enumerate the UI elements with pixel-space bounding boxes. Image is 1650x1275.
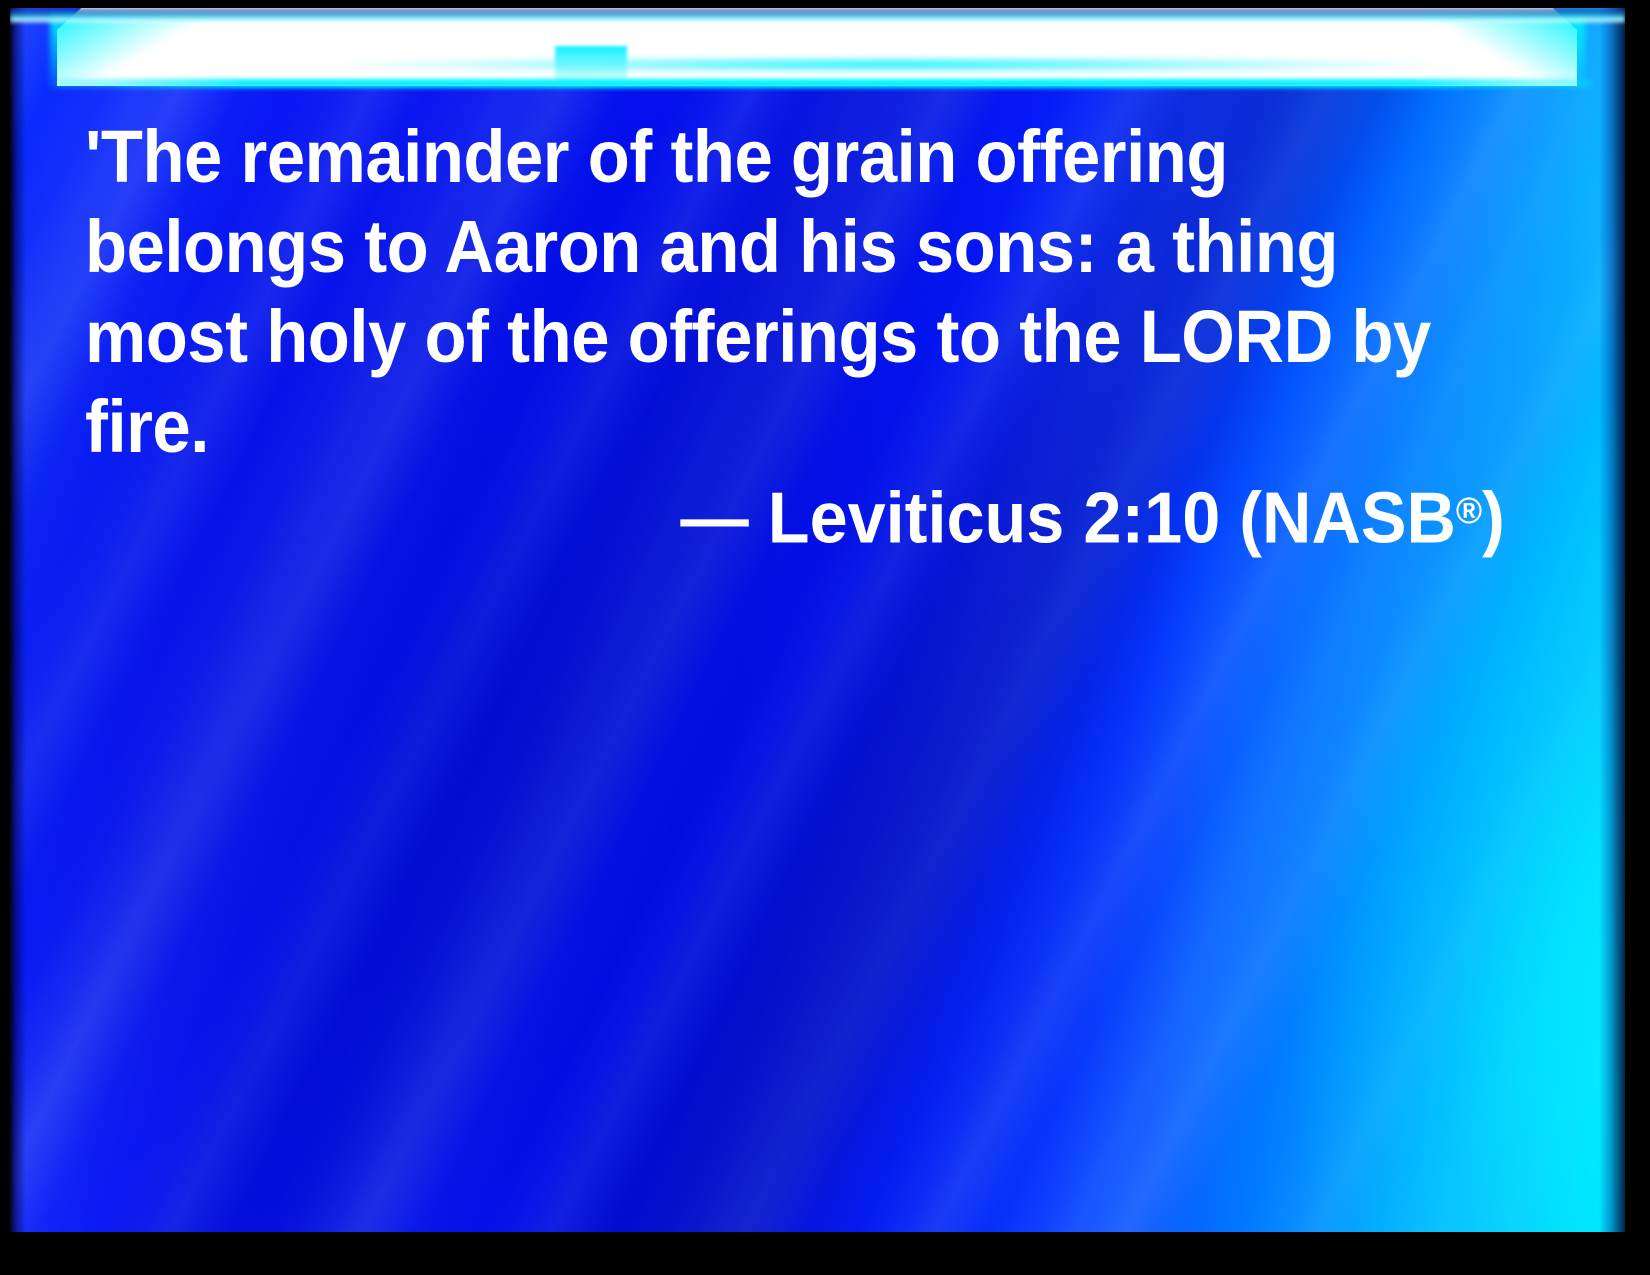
- top-glow-bar: [10, 8, 1625, 92]
- open-paren: (: [1239, 478, 1262, 558]
- glow-bar-cyan-core: [220, 56, 1560, 73]
- em-dash: —: [681, 478, 749, 558]
- glow-bar-bottom-edge: [58, 79, 1592, 88]
- glow-bar-top-haze: [10, 8, 1625, 22]
- attribution-space-3: [1220, 478, 1239, 558]
- registered-trademark-icon: ®: [1456, 489, 1482, 531]
- book-name: Leviticus: [768, 478, 1065, 558]
- background-left-edge-shadow: [10, 8, 26, 1232]
- verse-attribution-inner: — Leviticus 2:10 (NASB®): [681, 468, 1505, 560]
- background-right-edge-shadow: [1599, 8, 1625, 1232]
- close-paren: ): [1482, 478, 1505, 558]
- glow-bar-left-wedge: [50, 14, 280, 88]
- attribution-space-1: [749, 478, 768, 558]
- translation-name: NASB: [1262, 478, 1456, 558]
- slide-stage: 'The remainder of the grain offering bel…: [10, 8, 1625, 1232]
- glow-bar-right-wedge: [1355, 14, 1585, 88]
- verse-slide: 'The remainder of the grain offering bel…: [0, 0, 1650, 1275]
- verse-reference: 2:10: [1083, 478, 1220, 558]
- verse-line-2: belongs to Aaron and his sons: a thing: [85, 202, 1410, 292]
- verse-text-block: 'The remainder of the grain offering bel…: [85, 112, 1510, 472]
- verse-attribution: — Leviticus 2:10 (NASB®): [85, 468, 1505, 560]
- verse-line-4: fire.: [85, 382, 1410, 472]
- verse-line-3: most holy of the offerings to the LORD b…: [85, 292, 1410, 382]
- attribution-space-2: [1064, 478, 1083, 558]
- verse-line-1: 'The remainder of the grain offering: [85, 112, 1410, 202]
